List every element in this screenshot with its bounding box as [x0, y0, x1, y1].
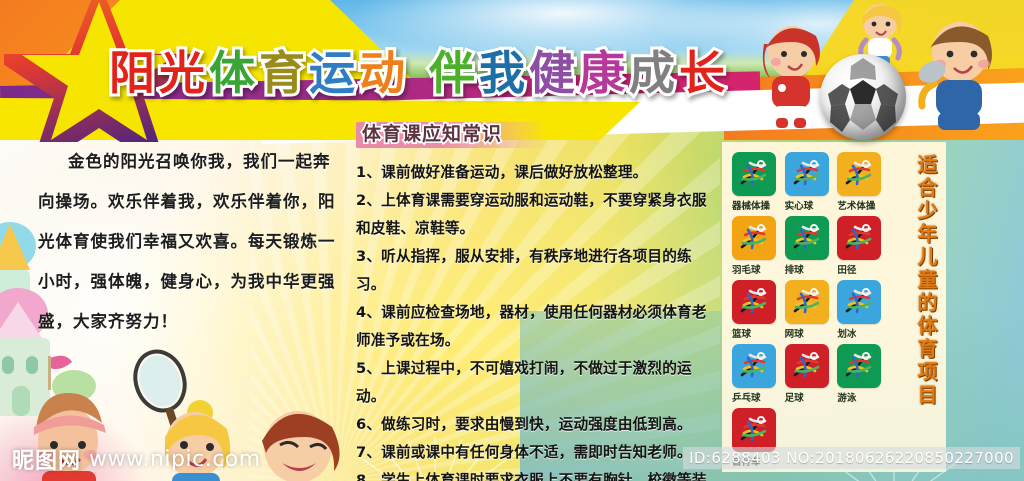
sport-label: 羽毛球 [732, 262, 778, 276]
site-watermark: 昵图网 www.nipic.com [12, 443, 261, 475]
boy-blue-jersey-illustration [918, 14, 998, 138]
boy-red-jersey-illustration [760, 18, 822, 130]
title-char: 伴 [428, 50, 476, 96]
athlete-pictogram-icon [785, 216, 829, 260]
rule-item: 7、课前或课中有任何身体不适，需即时告知老师。 [356, 439, 718, 467]
rule-item: 2、上体育课需要穿运动服和运动鞋，不要穿紧身衣服和皮鞋、凉鞋等。 [356, 187, 718, 243]
title-char: 动 [358, 50, 406, 96]
title-char: 光 [158, 50, 206, 96]
poster-canvas: 阳光体育运动伴我健康成长 金色的阳光召唤你我，我们一起奔向操场。欢乐伴着我，欢乐… [0, 0, 1024, 481]
sport-cell: 网球 [785, 280, 831, 340]
title-char: 长 [678, 50, 726, 96]
athlete-pictogram-icon [837, 216, 881, 260]
sport-label: 器械体操 [732, 198, 778, 212]
sports-panel: 器械体操 实心球 艺术体操 羽毛球 排球 [722, 142, 946, 472]
title-char: 育 [258, 50, 306, 96]
athlete-pictogram-icon [732, 152, 776, 196]
image-id-watermark: ID:6288403 NO:20180626220850227000 [683, 447, 1020, 469]
sport-cell: 田径 [837, 216, 883, 276]
athlete-pictogram-icon [732, 408, 776, 452]
panel-vertical-title: 适合少年儿童的体育项目 [896, 154, 936, 407]
site-url-text: www.nipic.com [89, 447, 261, 472]
sport-cell: 艺术体操 [837, 152, 883, 212]
soccer-ball-icon [820, 54, 906, 140]
sport-label: 足球 [785, 390, 831, 404]
sports-grid: 器械体操 实心球 艺术体操 羽毛球 排球 [732, 152, 884, 468]
page-title: 阳光体育运动伴我健康成长 [108, 50, 726, 96]
sport-label: 乒乓球 [732, 390, 778, 404]
athlete-pictogram-icon [732, 216, 776, 260]
sport-label: 田径 [837, 262, 883, 276]
rule-item: 8、学生上体育课时要求衣服上不要有胸针、校徽等装饰物，上衣裤子口袋中不要装钥匙、… [356, 467, 718, 481]
rule-item: 1、课前做好准备运动，课后做好放松整理。 [356, 159, 718, 187]
sport-cell: 足球 [785, 344, 831, 404]
sport-cell: 排球 [785, 216, 831, 276]
sport-label: 排球 [785, 262, 831, 276]
rule-item: 4、课前应检查场地，器材，使用任何器材必须体育老师准予或在场。 [356, 299, 718, 355]
rule-item: 6、做练习时，要求由慢到快，运动强度由低到高。 [356, 411, 718, 439]
sport-cell: 羽毛球 [732, 216, 778, 276]
sport-label: 艺术体操 [837, 198, 883, 212]
title-char: 体 [208, 50, 256, 96]
sport-cell: 篮球 [732, 280, 778, 340]
section-header-banner: 体育课应知常识 [356, 122, 548, 148]
athlete-pictogram-icon [785, 152, 829, 196]
rule-item: 3、听从指挥，服从安排，有秩序地进行各项目的练习。 [356, 243, 718, 299]
athlete-pictogram-icon [732, 344, 776, 388]
sport-cell: 器械体操 [732, 152, 778, 212]
title-char: 康 [578, 50, 626, 96]
sport-cell: 乒乓球 [732, 344, 778, 404]
poem-text: 金色的阳光召唤你我，我们一起奔向操场。欢乐伴着我，欢乐伴着你，阳光体育使我们幸福… [38, 142, 338, 342]
rule-item: 5、上课过程中，不可嬉戏打闹，不做过于激烈的运动。 [356, 355, 718, 411]
sport-label: 篮球 [732, 326, 778, 340]
sport-cell: 实心球 [785, 152, 831, 212]
title-char: 健 [528, 50, 576, 96]
athlete-pictogram-icon [785, 344, 829, 388]
title-char: 成 [628, 50, 676, 96]
athlete-pictogram-icon [837, 344, 881, 388]
athlete-pictogram-icon [837, 152, 881, 196]
athlete-pictogram-icon [785, 280, 829, 324]
sport-label: 划冰 [837, 326, 883, 340]
athlete-pictogram-icon [837, 280, 881, 324]
sport-label: 实心球 [785, 198, 831, 212]
sport-cell: 划冰 [837, 280, 883, 340]
sport-label: 网球 [785, 326, 831, 340]
title-char: 阳 [108, 50, 156, 96]
sport-label: 游泳 [837, 390, 883, 404]
section-header-label: 体育课应知常识 [362, 119, 502, 146]
rules-list: 1、课前做好准备运动，课后做好放松整理。2、上体育课需要穿运动服和运动鞋，不要穿… [356, 159, 718, 481]
title-char: 我 [478, 50, 526, 96]
athlete-pictogram-icon [732, 280, 776, 324]
title-char: 运 [308, 50, 356, 96]
sport-cell: 游泳 [837, 344, 883, 404]
center-content-column: 体育课应知常识 1、课前做好准备运动，课后做好放松整理。2、上体育课需要穿运动服… [356, 122, 718, 481]
site-name-cn: 昵图网 [12, 443, 81, 475]
